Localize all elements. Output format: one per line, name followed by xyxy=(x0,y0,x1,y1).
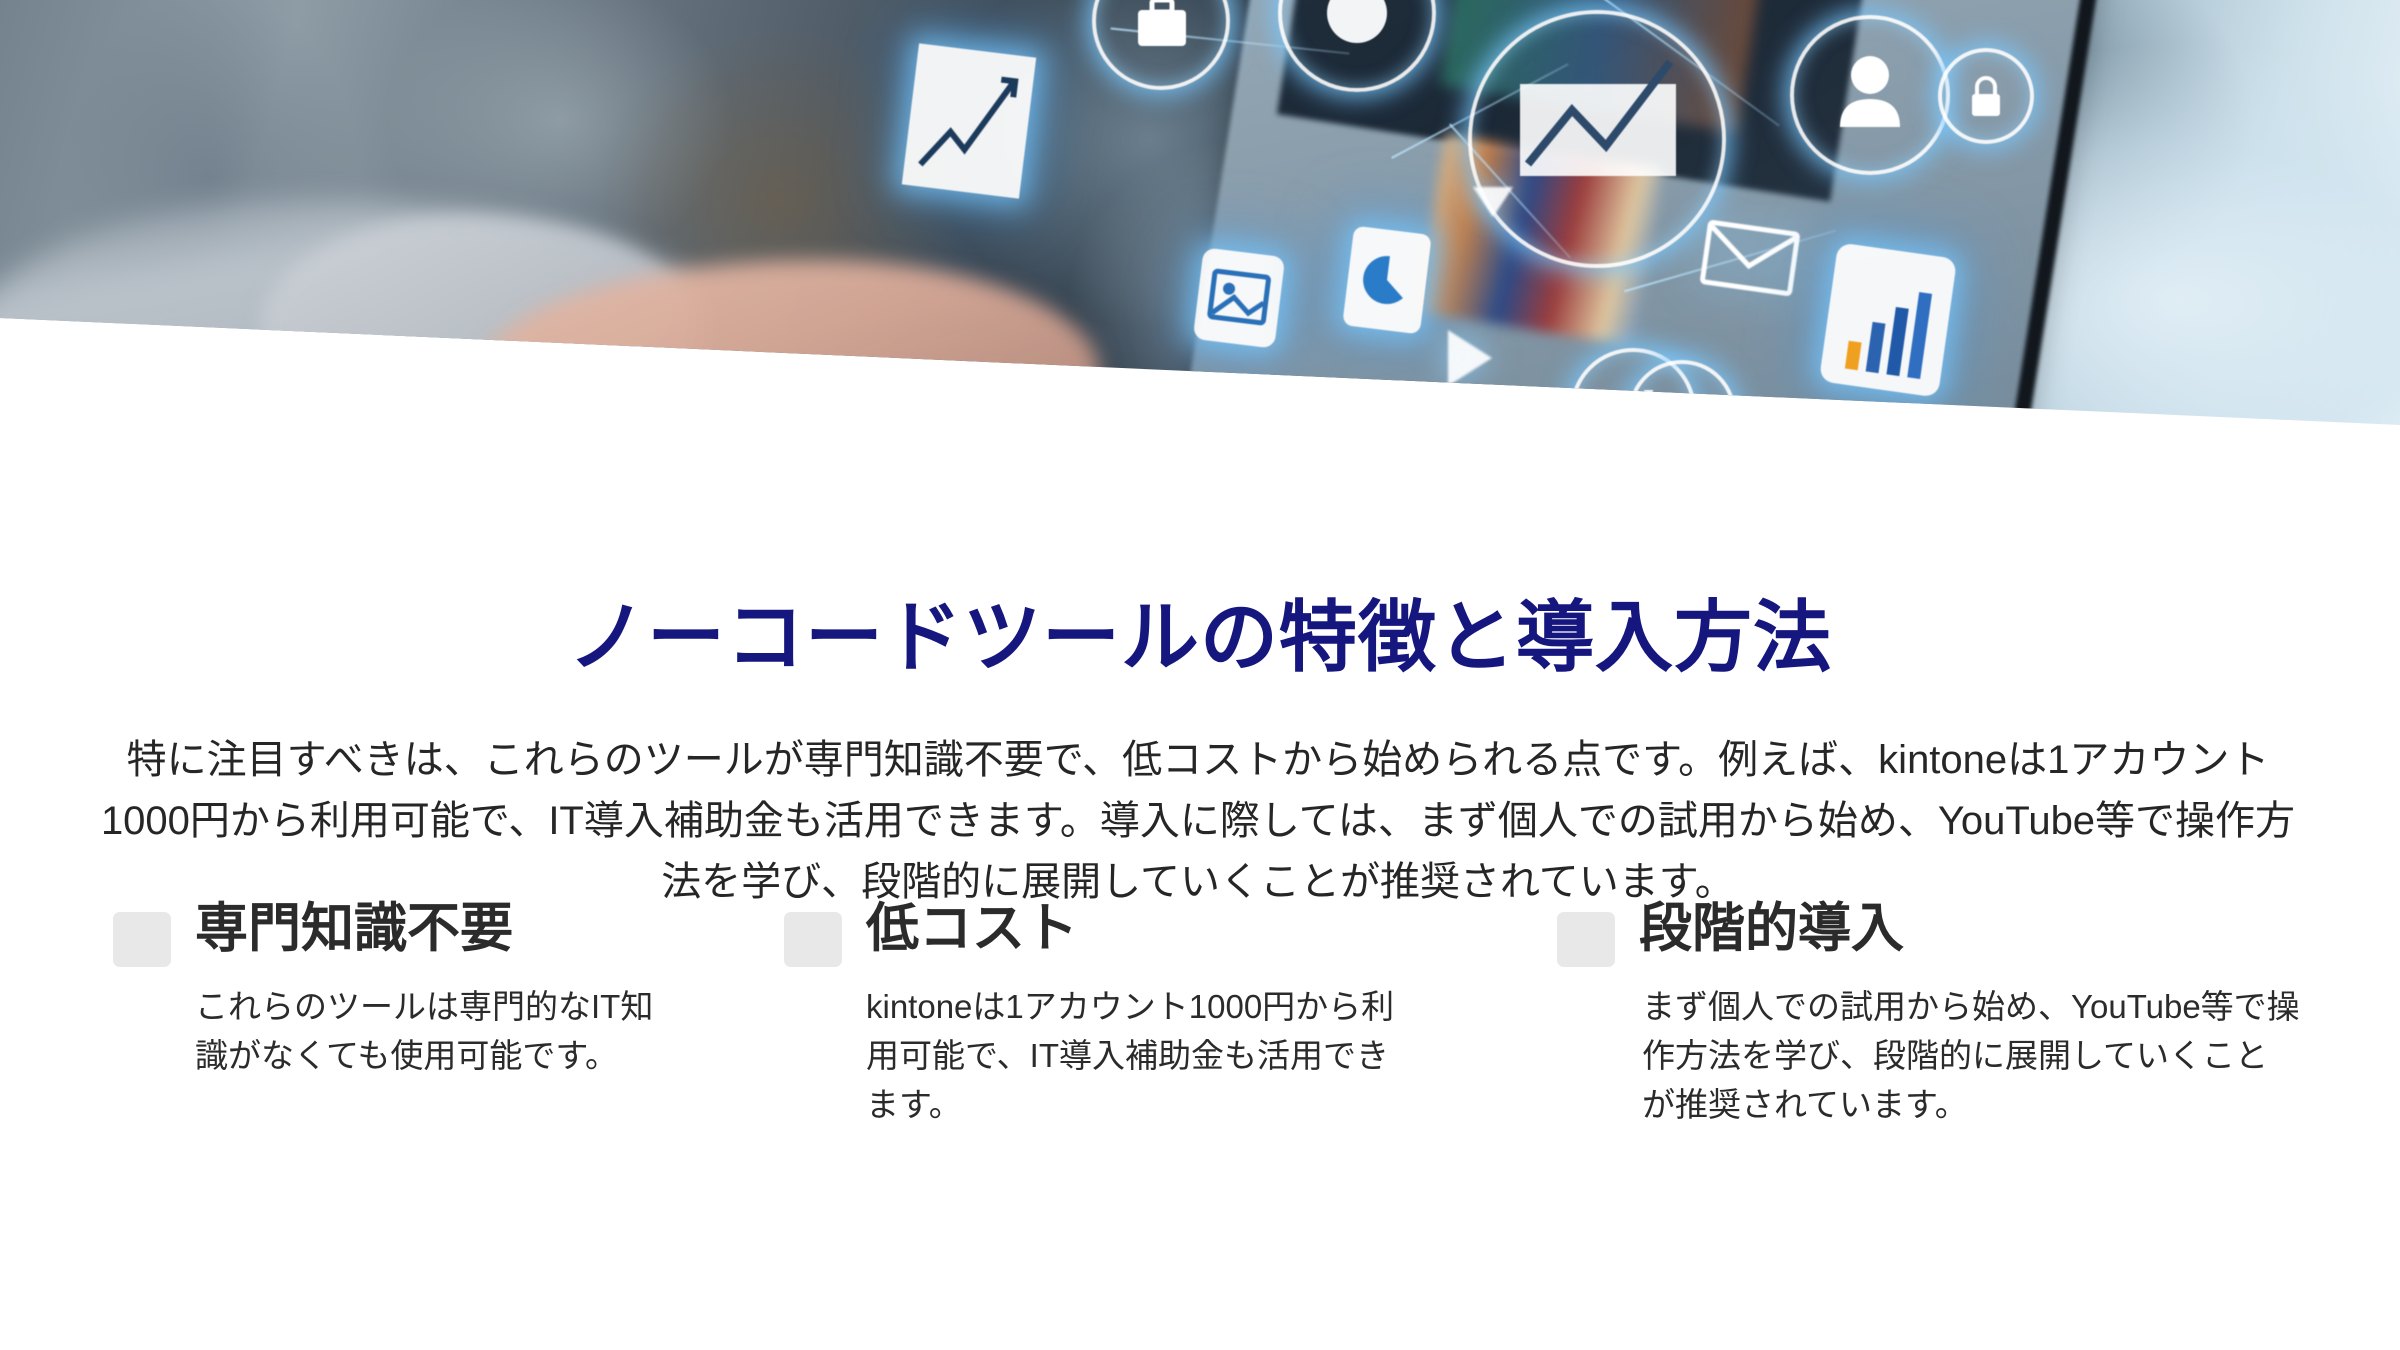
square-placeholder-icon xyxy=(784,912,842,967)
pie-chart-card-icon xyxy=(1342,226,1432,335)
person-ring-icon xyxy=(1790,15,1950,175)
feature-column-1-header: 専門知識不要 xyxy=(113,900,676,967)
target-ring-icon xyxy=(1278,0,1436,92)
feature-column-3: 段階的導入 まず個人での試用から始め、YouTube等で操作方法を学び、段階的に… xyxy=(1472,900,2400,1129)
feature-column-3-header: 段階的導入 xyxy=(1557,900,2300,967)
clock-icon-glyph xyxy=(1632,364,1732,430)
feature-columns: 専門知識不要 これらのツールは専門的なIT知識がなくても使用可能です。 低コスト… xyxy=(0,900,2400,1129)
square-placeholder-icon xyxy=(113,912,171,967)
person-icon-glyph xyxy=(1794,19,1946,171)
feature-column-2-body: kintoneは1アカウント1000円から利用可能で、IT導入補助金も活用できま… xyxy=(866,983,1412,1129)
feature-column-2: 低コスト kintoneは1アカウント1000円から利用可能で、IT導入補助金も… xyxy=(736,900,1472,1129)
square-placeholder-icon xyxy=(1557,912,1615,967)
lock-ring-icon xyxy=(1938,48,2034,144)
photo-card-icon xyxy=(1193,247,1286,348)
lead-paragraph: 特に注目すべきは、これらのツールが専門知識不要で、低コストから始められる点です。… xyxy=(100,730,2296,912)
pie-chart-icon-glyph xyxy=(1342,226,1432,335)
line-chart-icon-glyph xyxy=(902,43,1036,198)
trend-circle-icon xyxy=(1468,10,1726,268)
envelope-icon xyxy=(1697,216,1802,301)
envelope-icon-glyph xyxy=(1697,216,1802,301)
target-icon-glyph xyxy=(1282,0,1432,88)
feature-column-2-title: 低コスト xyxy=(866,900,1078,958)
play-triangle-icon xyxy=(1473,187,1513,217)
play-triangle-icon xyxy=(1448,330,1492,386)
feature-column-3-title: 段階的導入 xyxy=(1639,900,1904,958)
briefcase-icon-glyph xyxy=(1096,0,1226,86)
trend-line-icon-glyph xyxy=(1472,14,1722,264)
feature-column-1: 専門知識不要 これらのツールは専門的なIT知識がなくても使用可能です。 xyxy=(0,900,736,1081)
clock-ring-icon xyxy=(1628,360,1736,430)
bar-chart-card-icon xyxy=(1819,242,1957,397)
feature-column-2-header: 低コスト xyxy=(784,900,1412,967)
page-title: ノーコードツールの特徴と導入方法 xyxy=(0,597,2400,679)
hero-image xyxy=(0,0,2400,430)
lock-icon-glyph xyxy=(1942,52,2030,140)
bar-chart-color-icon-glyph xyxy=(1819,242,1957,397)
feature-column-3-body: まず個人での試用から始め、YouTube等で操作方法を学び、段階的に展開していく… xyxy=(1642,983,2300,1129)
briefcase-ring-icon xyxy=(1092,0,1230,90)
line-chart-card-icon xyxy=(902,43,1036,198)
feature-column-1-body: これらのツールは専門的なIT知識がなくても使用可能です。 xyxy=(195,983,676,1081)
feature-column-1-title: 専門知識不要 xyxy=(195,900,513,958)
photo-icon-glyph xyxy=(1193,247,1286,348)
